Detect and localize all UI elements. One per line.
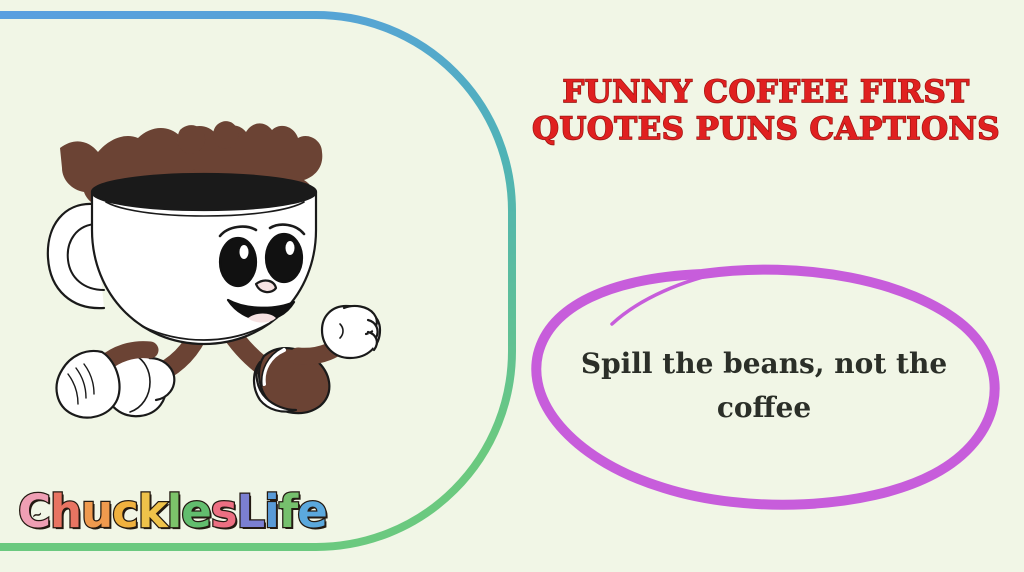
brand-logo[interactable]: ~ ChucklesLife	[18, 487, 327, 537]
logo-letter-11: e	[297, 487, 327, 537]
mascot-right-leg	[228, 328, 329, 413]
poster-canvas: Funny Coffee First Quotes Puns Captions …	[0, 0, 1024, 572]
quote-block: Spill the beans, not the coffee	[516, 252, 1012, 510]
quote-line-2: coffee	[570, 386, 958, 430]
logo-letter-6: e	[181, 487, 211, 537]
quote-text: Spill the beans, not the coffee	[570, 342, 958, 430]
logo-letter-4: k	[138, 487, 167, 537]
logo-letter-2: u	[81, 487, 112, 537]
headline-line-2: Quotes Puns Captions	[516, 111, 1016, 148]
logo-letter-8: L	[237, 487, 265, 537]
mascot-right-arm	[298, 306, 380, 358]
logo-letter-1: h	[50, 487, 81, 537]
logo-letter-3: c	[112, 487, 138, 537]
logo-letter-10: f	[279, 487, 298, 537]
logo-letter-7: s	[211, 487, 237, 537]
poster-headline: Funny Coffee First Quotes Puns Captions	[516, 74, 1016, 148]
logo-letter-5: l	[167, 487, 181, 537]
quote-line-1: Spill the beans, not the	[570, 342, 958, 386]
logo-letter-9: i	[264, 487, 278, 537]
mascot-illustration	[32, 118, 412, 448]
headline-line-1: Funny Coffee First	[516, 74, 1016, 111]
